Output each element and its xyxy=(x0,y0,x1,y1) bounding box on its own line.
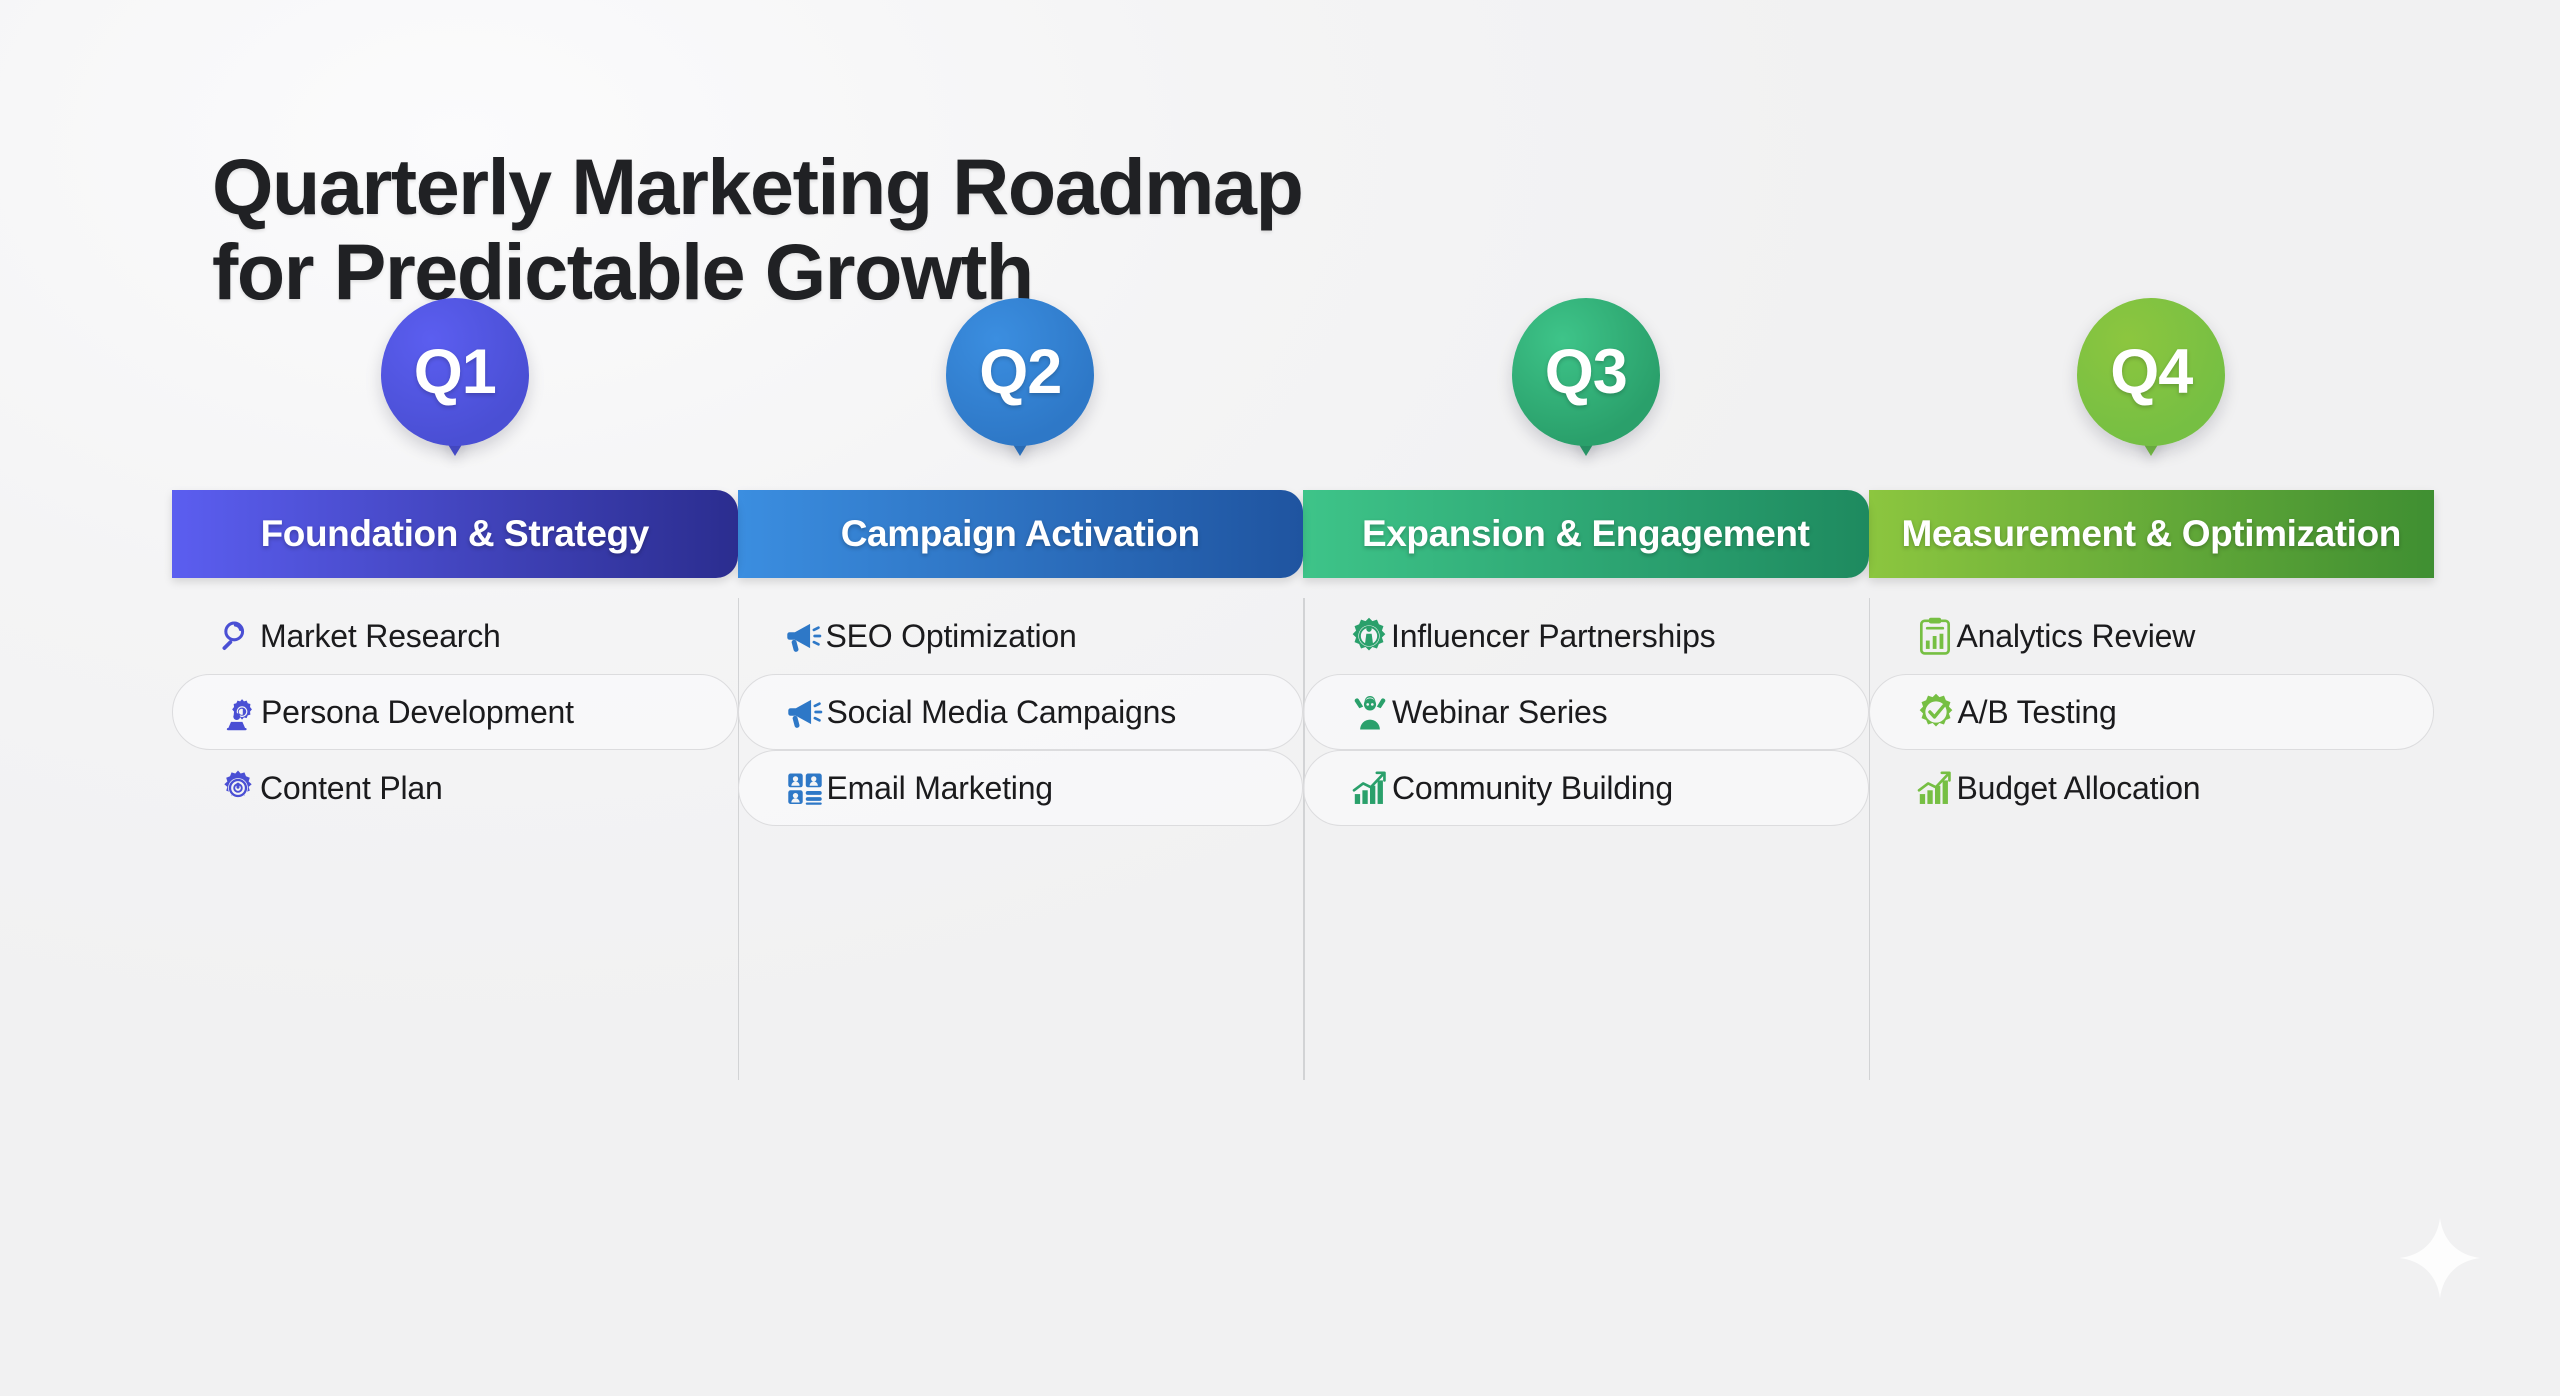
presenter-icon xyxy=(1350,692,1390,732)
list-item[interactable]: Email Marketing xyxy=(738,750,1304,826)
list-item[interactable]: Content Plan xyxy=(172,750,738,826)
list-item-label: Persona Development xyxy=(261,694,574,731)
list-item[interactable]: Influencer Partnerships xyxy=(1303,598,1869,674)
phase-title: Measurement & Optimization xyxy=(1902,513,2401,555)
quarter-column-q2: Q2 Campaign Activation SEO Optimization … xyxy=(738,490,1304,1110)
list-item[interactable]: Market Research xyxy=(172,598,738,674)
list-item-label: SEO Optimization xyxy=(826,618,1077,655)
page-title: Quarterly Marketing Roadmap for Predicta… xyxy=(212,145,1812,314)
title-line-1: Quarterly Marketing Roadmap xyxy=(212,145,1812,230)
persona-gear-icon xyxy=(219,692,259,732)
quarter-marker-q1[interactable]: Q1 xyxy=(371,298,539,480)
clipboard-chart-icon xyxy=(1916,617,1954,655)
check-badge-icon xyxy=(1917,693,1955,731)
growth-chart-icon xyxy=(1916,769,1954,807)
quarter-marker-q4[interactable]: Q4 xyxy=(2067,298,2235,480)
megaphone-icon xyxy=(786,693,824,731)
phase-title: Campaign Activation xyxy=(841,513,1200,555)
list-item[interactable]: Budget Allocation xyxy=(1869,750,2435,826)
magnifier-icon xyxy=(218,616,258,656)
list-item-label: A/B Testing xyxy=(1958,694,2117,731)
quarter-item-list: Market Research Persona Development Cont… xyxy=(172,598,738,826)
sparkle-icon xyxy=(2396,1214,2484,1302)
presenter-icon xyxy=(1351,693,1389,731)
award-badge-icon xyxy=(1349,616,1389,656)
bubble-circle: Q2 xyxy=(946,298,1094,446)
phase-title: Foundation & Strategy xyxy=(261,513,649,555)
bubble-circle: Q4 xyxy=(2077,298,2225,446)
list-item-label: Influencer Partnerships xyxy=(1391,618,1715,655)
list-item-label: Analytics Review xyxy=(1957,618,2196,655)
phase-header-q1[interactable]: Foundation & Strategy xyxy=(172,490,738,578)
list-item-label: Budget Allocation xyxy=(1957,770,2201,807)
slide-canvas: Quarterly Marketing Roadmap for Predicta… xyxy=(0,0,2560,1396)
phase-header-q4[interactable]: Measurement & Optimization xyxy=(1869,490,2435,578)
quarter-column-q3: Q3 Expansion & Engagement Influencer Par… xyxy=(1303,490,1869,1110)
growth-chart-icon xyxy=(1351,769,1389,807)
megaphone-icon xyxy=(785,692,825,732)
bubble-circle: Q3 xyxy=(1512,298,1660,446)
magnifier-icon xyxy=(219,617,257,655)
list-item[interactable]: Social Media Campaigns xyxy=(738,674,1304,750)
list-item[interactable]: Community Building xyxy=(1303,750,1869,826)
gear-target-icon xyxy=(219,769,257,807)
gear-target-icon xyxy=(218,768,258,808)
list-item-label: Webinar Series xyxy=(1392,694,1607,731)
bubble-circle: Q1 xyxy=(381,298,529,446)
list-item-label: Market Research xyxy=(260,618,501,655)
list-item[interactable]: Analytics Review xyxy=(1869,598,2435,674)
contact-card-icon xyxy=(785,768,825,808)
megaphone-icon xyxy=(784,616,824,656)
quarter-marker-q3[interactable]: Q3 xyxy=(1502,298,1670,480)
contact-card-icon xyxy=(786,769,824,807)
quarter-badge-label: Q4 xyxy=(2110,341,2192,404)
quarter-badge-label: Q2 xyxy=(979,341,1061,404)
persona-gear-icon xyxy=(220,693,258,731)
check-badge-icon xyxy=(1916,692,1956,732)
growth-chart-icon xyxy=(1350,768,1390,808)
list-item-label: Community Building xyxy=(1392,770,1673,807)
phase-header-q2[interactable]: Campaign Activation xyxy=(738,490,1304,578)
phase-header-q3[interactable]: Expansion & Engagement xyxy=(1303,490,1869,578)
quarter-item-list: Influencer Partnerships Webinar Series C… xyxy=(1303,598,1869,826)
list-item[interactable]: A/B Testing xyxy=(1869,674,2435,750)
quarter-item-list: Analytics Review A/B Testing Budget Allo… xyxy=(1869,598,2435,826)
quarter-marker-q2[interactable]: Q2 xyxy=(936,298,1104,480)
roadmap-timeline: Q1 Foundation & Strategy Market Research… xyxy=(172,490,2434,1110)
quarter-badge-label: Q3 xyxy=(1545,341,1627,404)
quarter-column-q1: Q1 Foundation & Strategy Market Research… xyxy=(172,490,738,1110)
growth-chart-icon xyxy=(1915,768,1955,808)
quarter-columns: Q1 Foundation & Strategy Market Research… xyxy=(172,490,2434,1110)
list-item[interactable]: Persona Development xyxy=(172,674,738,750)
quarter-item-list: SEO Optimization Social Media Campaigns … xyxy=(738,598,1304,826)
quarter-badge-label: Q1 xyxy=(414,341,496,404)
award-badge-icon xyxy=(1350,617,1388,655)
list-item-label: Content Plan xyxy=(260,770,443,807)
list-item[interactable]: Webinar Series xyxy=(1303,674,1869,750)
quarter-column-q4: Q4 Measurement & Optimization Analytics … xyxy=(1869,490,2435,1110)
clipboard-chart-icon xyxy=(1915,616,1955,656)
list-item[interactable]: SEO Optimization xyxy=(738,598,1304,674)
list-item-label: Email Marketing xyxy=(827,770,1053,807)
list-item-label: Social Media Campaigns xyxy=(827,694,1177,731)
megaphone-icon xyxy=(785,617,823,655)
phase-title: Expansion & Engagement xyxy=(1362,513,1810,555)
